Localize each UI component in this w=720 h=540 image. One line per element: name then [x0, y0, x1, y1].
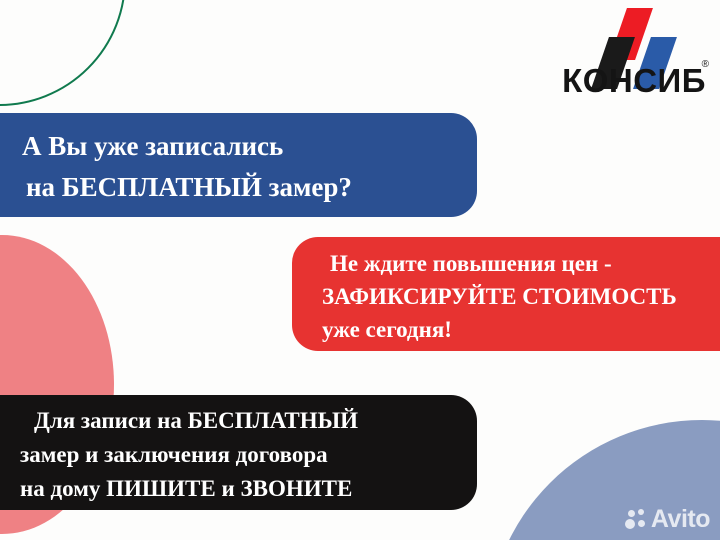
banner-red-line-1: Не ждите повышения цен -: [330, 247, 720, 280]
urgency-banner-red: Не ждите повышения цен - ЗАФИКСИРУЙТЕ СТ…: [292, 237, 720, 351]
green-ring-decoration: [0, 0, 126, 106]
banner-red-line-3: уже сегодня!: [322, 313, 720, 346]
cta-banner-black: Для записи на БЕСПЛАТНЫЙ замер и заключе…: [0, 395, 477, 510]
registered-trademark-icon: ®: [702, 59, 709, 70]
logo-mark-icon: [508, 6, 708, 66]
banner-black-line-1: Для записи на БЕСПЛАТНЫЙ: [20, 404, 477, 438]
banner-red-line-2: ЗАФИКСИРУЙТЕ СТОИМОСТЬ: [322, 280, 720, 313]
avito-watermark-label: Avito: [651, 507, 710, 532]
avito-watermark: Avito: [625, 507, 710, 532]
logo-wordmark: КОНСИБ: [562, 64, 706, 97]
banner-black-line-2: замер и заключения договора: [20, 438, 477, 472]
banner-blue-line-1: А Вы уже записались: [22, 126, 477, 167]
poster-canvas: КОНСИБ ® А Вы уже записались на БЕСПЛАТН…: [0, 0, 720, 540]
headline-banner-blue: А Вы уже записались на БЕСПЛАТНЫЙ замер?: [0, 113, 477, 217]
banner-blue-line-2: на БЕСПЛАТНЫЙ замер?: [22, 167, 477, 208]
banner-black-line-3: на дому ПИШИТЕ и ЗВОНИТЕ: [20, 472, 477, 506]
avito-dots-icon: [625, 509, 647, 531]
brand-logo: КОНСИБ ®: [508, 6, 708, 108]
